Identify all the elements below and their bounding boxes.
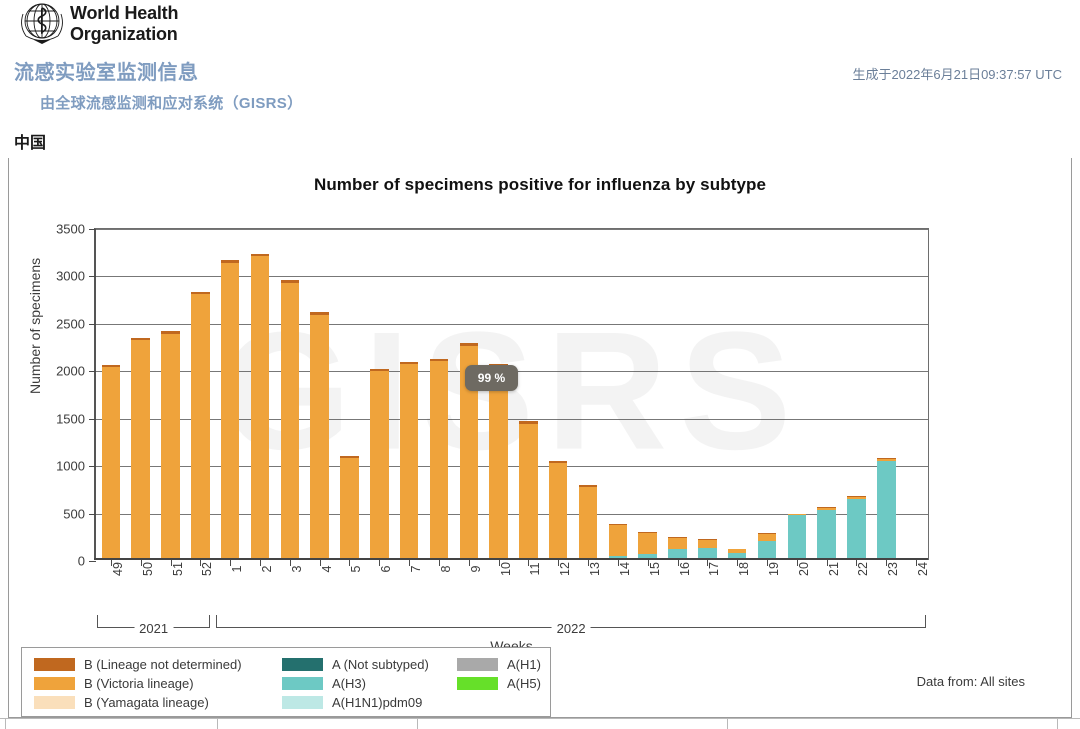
x-tick-label: 49 <box>111 562 125 576</box>
x-tick-label: 23 <box>886 562 900 576</box>
bar-segment[interactable] <box>579 487 597 560</box>
page-header: World Health Organization 流感实验室监测信息 生成于2… <box>0 0 1080 153</box>
strip-cell <box>728 719 1058 729</box>
legend-swatch <box>282 677 323 690</box>
bar-column[interactable] <box>817 507 835 560</box>
bar-segment[interactable] <box>638 533 656 554</box>
legend-item[interactable]: B (Yamagata lineage) <box>34 695 282 710</box>
bar-column[interactable] <box>638 532 656 560</box>
bottom-strip <box>0 718 1080 729</box>
x-tick-label: 52 <box>200 562 214 576</box>
legend-item[interactable]: A(H1N1)pdm09 <box>282 695 457 710</box>
chart-legend: B (Lineage not determined)A (Not subtype… <box>21 647 551 717</box>
y-tick-label: 1000 <box>56 459 85 474</box>
bar-column[interactable] <box>251 254 269 560</box>
chart-title: Number of specimens positive for influen… <box>9 158 1071 195</box>
bar-segment[interactable] <box>102 367 120 560</box>
x-tick-label: 12 <box>558 562 572 576</box>
bar-column[interactable] <box>668 537 686 560</box>
y-tick-mark <box>89 466 96 467</box>
bar-segment[interactable] <box>370 371 388 560</box>
legend-item[interactable]: A(H1) <box>457 657 550 672</box>
y-tick-label: 3500 <box>56 222 85 237</box>
bar-column[interactable] <box>847 496 865 560</box>
bar-segment[interactable] <box>758 534 776 541</box>
year-label: 2021 <box>134 621 173 636</box>
year-label: 2022 <box>552 621 591 636</box>
bar-segment[interactable] <box>609 525 627 556</box>
bar-segment[interactable] <box>131 340 149 560</box>
legend-swatch <box>34 677 75 690</box>
x-tick-label: 21 <box>827 562 841 576</box>
x-tick-label: 24 <box>916 562 930 576</box>
bar-column[interactable] <box>191 292 209 560</box>
bar-column[interactable] <box>102 365 120 560</box>
y-tick-mark <box>89 229 96 230</box>
x-tick-label: 7 <box>409 566 423 573</box>
bar-column[interactable] <box>281 280 299 560</box>
bar-column[interactable] <box>877 458 895 560</box>
bar-segment[interactable] <box>400 364 418 560</box>
y-axis-label: Number of specimens <box>27 258 43 394</box>
y-tick-label: 2000 <box>56 364 85 379</box>
chart-panel: Number of specimens positive for influen… <box>8 158 1072 718</box>
y-tick-mark <box>89 419 96 420</box>
title-row: 流感实验室监测信息 生成于2022年6月21日09:37:57 UTC <box>0 48 1080 85</box>
bar-column[interactable] <box>549 461 567 560</box>
legend-label: A(H3) <box>332 676 366 691</box>
legend-swatch <box>457 677 498 690</box>
legend-label: A(H1) <box>507 657 541 672</box>
bar-column[interactable] <box>758 533 776 560</box>
x-tick-label: 1 <box>230 566 244 573</box>
country-name: 中国 <box>0 113 1080 153</box>
bar-column[interactable] <box>161 331 179 560</box>
who-emblem-icon <box>14 0 70 46</box>
x-tick-label: 18 <box>737 562 751 576</box>
x-tick-label: 10 <box>499 562 513 576</box>
x-tick-label: 2 <box>260 566 274 573</box>
year-bracket: 2022 <box>216 615 926 628</box>
y-tick-label: 1500 <box>56 411 85 426</box>
bar-segment[interactable] <box>191 294 209 560</box>
legend-item[interactable]: A(H5) <box>457 676 550 691</box>
bar-segment[interactable] <box>251 256 269 560</box>
x-tick-label: 19 <box>767 562 781 576</box>
y-tick-label: 2500 <box>56 316 85 331</box>
y-tick-mark <box>89 276 96 277</box>
bar-column[interactable] <box>400 362 418 560</box>
who-branding: World Health Organization <box>0 0 1080 48</box>
y-tick-label: 500 <box>63 506 85 521</box>
x-tick-label: 3 <box>290 566 304 573</box>
bar-segment[interactable] <box>817 510 835 560</box>
legend-label: A(H1N1)pdm09 <box>332 695 422 710</box>
x-tick-label: 16 <box>678 562 692 576</box>
x-tick-label: 4 <box>320 566 334 573</box>
legend-swatch <box>34 658 75 671</box>
legend-swatch <box>282 658 323 671</box>
x-tick-label: 51 <box>171 562 185 576</box>
bar-segment[interactable] <box>877 461 895 560</box>
bar-segment[interactable] <box>310 315 328 560</box>
bar-column[interactable] <box>489 364 507 560</box>
x-axis-line <box>94 558 928 560</box>
y-tick-label: 0 <box>78 554 85 569</box>
legend-swatch <box>457 658 498 671</box>
who-wordmark: World Health Organization <box>70 2 178 45</box>
plot-area: GISRS 0500100015002000250030003500 49505… <box>94 228 929 560</box>
bar-segment[interactable] <box>161 334 179 560</box>
bar-segment[interactable] <box>519 424 537 559</box>
page-subtitle: 由全球流感监测和应对系统（GISRS） <box>0 85 1080 113</box>
who-wordmark-line1: World Health <box>70 3 178 24</box>
legend-label: B (Lineage not determined) <box>84 657 242 672</box>
legend-swatch <box>282 696 323 709</box>
bar-segment[interactable] <box>221 263 239 560</box>
bar-column[interactable] <box>310 312 328 560</box>
page-title: 流感实验室监测信息 <box>14 56 199 85</box>
who-wordmark-line2: Organization <box>70 24 178 45</box>
bar-segment[interactable] <box>668 538 686 548</box>
x-tick-label: 50 <box>141 562 155 576</box>
strip-cell <box>218 719 418 729</box>
bar-column[interactable] <box>788 514 806 560</box>
legend-grid: B (Lineage not determined)A (Not subtype… <box>34 655 550 712</box>
strip-cell <box>418 719 728 729</box>
legend-label: A (Not subtyped) <box>332 657 429 672</box>
legend-label: B (Victoria lineage) <box>84 676 194 691</box>
bar-segment[interactable] <box>788 515 806 560</box>
bar-segment[interactable] <box>340 458 358 560</box>
x-tick-label: 11 <box>528 563 542 576</box>
bar-column[interactable] <box>609 524 627 560</box>
legend-item[interactable]: A (Not subtyped) <box>282 657 457 672</box>
bar-column[interactable] <box>370 369 388 560</box>
x-tick-label: 6 <box>379 566 393 573</box>
legend-label: B (Yamagata lineage) <box>84 695 209 710</box>
legend-swatch <box>34 696 75 709</box>
bar-segment[interactable] <box>698 540 716 548</box>
x-tick-label: 5 <box>349 566 363 573</box>
y-tick-mark <box>89 561 96 562</box>
x-tick-label: 8 <box>439 566 453 573</box>
x-tick-label: 15 <box>648 562 662 576</box>
bar-column[interactable] <box>340 456 358 560</box>
bar-segment[interactable] <box>549 463 567 559</box>
bar-segment[interactable] <box>430 361 448 560</box>
bar-column[interactable] <box>698 539 716 560</box>
bar-column[interactable] <box>221 260 239 560</box>
bar-segment[interactable] <box>489 366 507 559</box>
x-tick-label: 13 <box>588 562 602 576</box>
legend-item[interactable]: B (Lineage not determined) <box>34 657 282 672</box>
bar-series-layer <box>96 229 928 560</box>
y-tick-label: 3000 <box>56 269 85 284</box>
bar-column[interactable] <box>430 359 448 560</box>
bar-column[interactable] <box>519 421 537 560</box>
value-tooltip: 99 % <box>465 365 518 391</box>
x-tick-label: 9 <box>469 566 483 573</box>
bar-segment[interactable] <box>847 499 865 560</box>
legend-item[interactable]: A(H3) <box>282 676 457 691</box>
x-tick-label: 17 <box>707 562 721 576</box>
x-tick-label: 22 <box>856 562 870 576</box>
y-tick-mark <box>89 514 96 515</box>
y-tick-mark <box>89 324 96 325</box>
generated-timestamp: 生成于2022年6月21日09:37:57 UTC <box>852 64 1062 83</box>
year-bracket: 2021 <box>97 615 210 628</box>
bar-column[interactable] <box>579 485 597 560</box>
legend-label: A(H5) <box>507 676 541 691</box>
x-tick-label: 14 <box>618 562 632 576</box>
bar-segment[interactable] <box>281 283 299 560</box>
strip-cell <box>6 719 218 729</box>
x-tick-label: 20 <box>797 562 811 576</box>
y-tick-mark <box>89 371 96 372</box>
data-source-note: Data from: All sites <box>917 674 1025 689</box>
legend-item[interactable]: B (Victoria lineage) <box>34 676 282 691</box>
bar-column[interactable] <box>131 338 149 560</box>
